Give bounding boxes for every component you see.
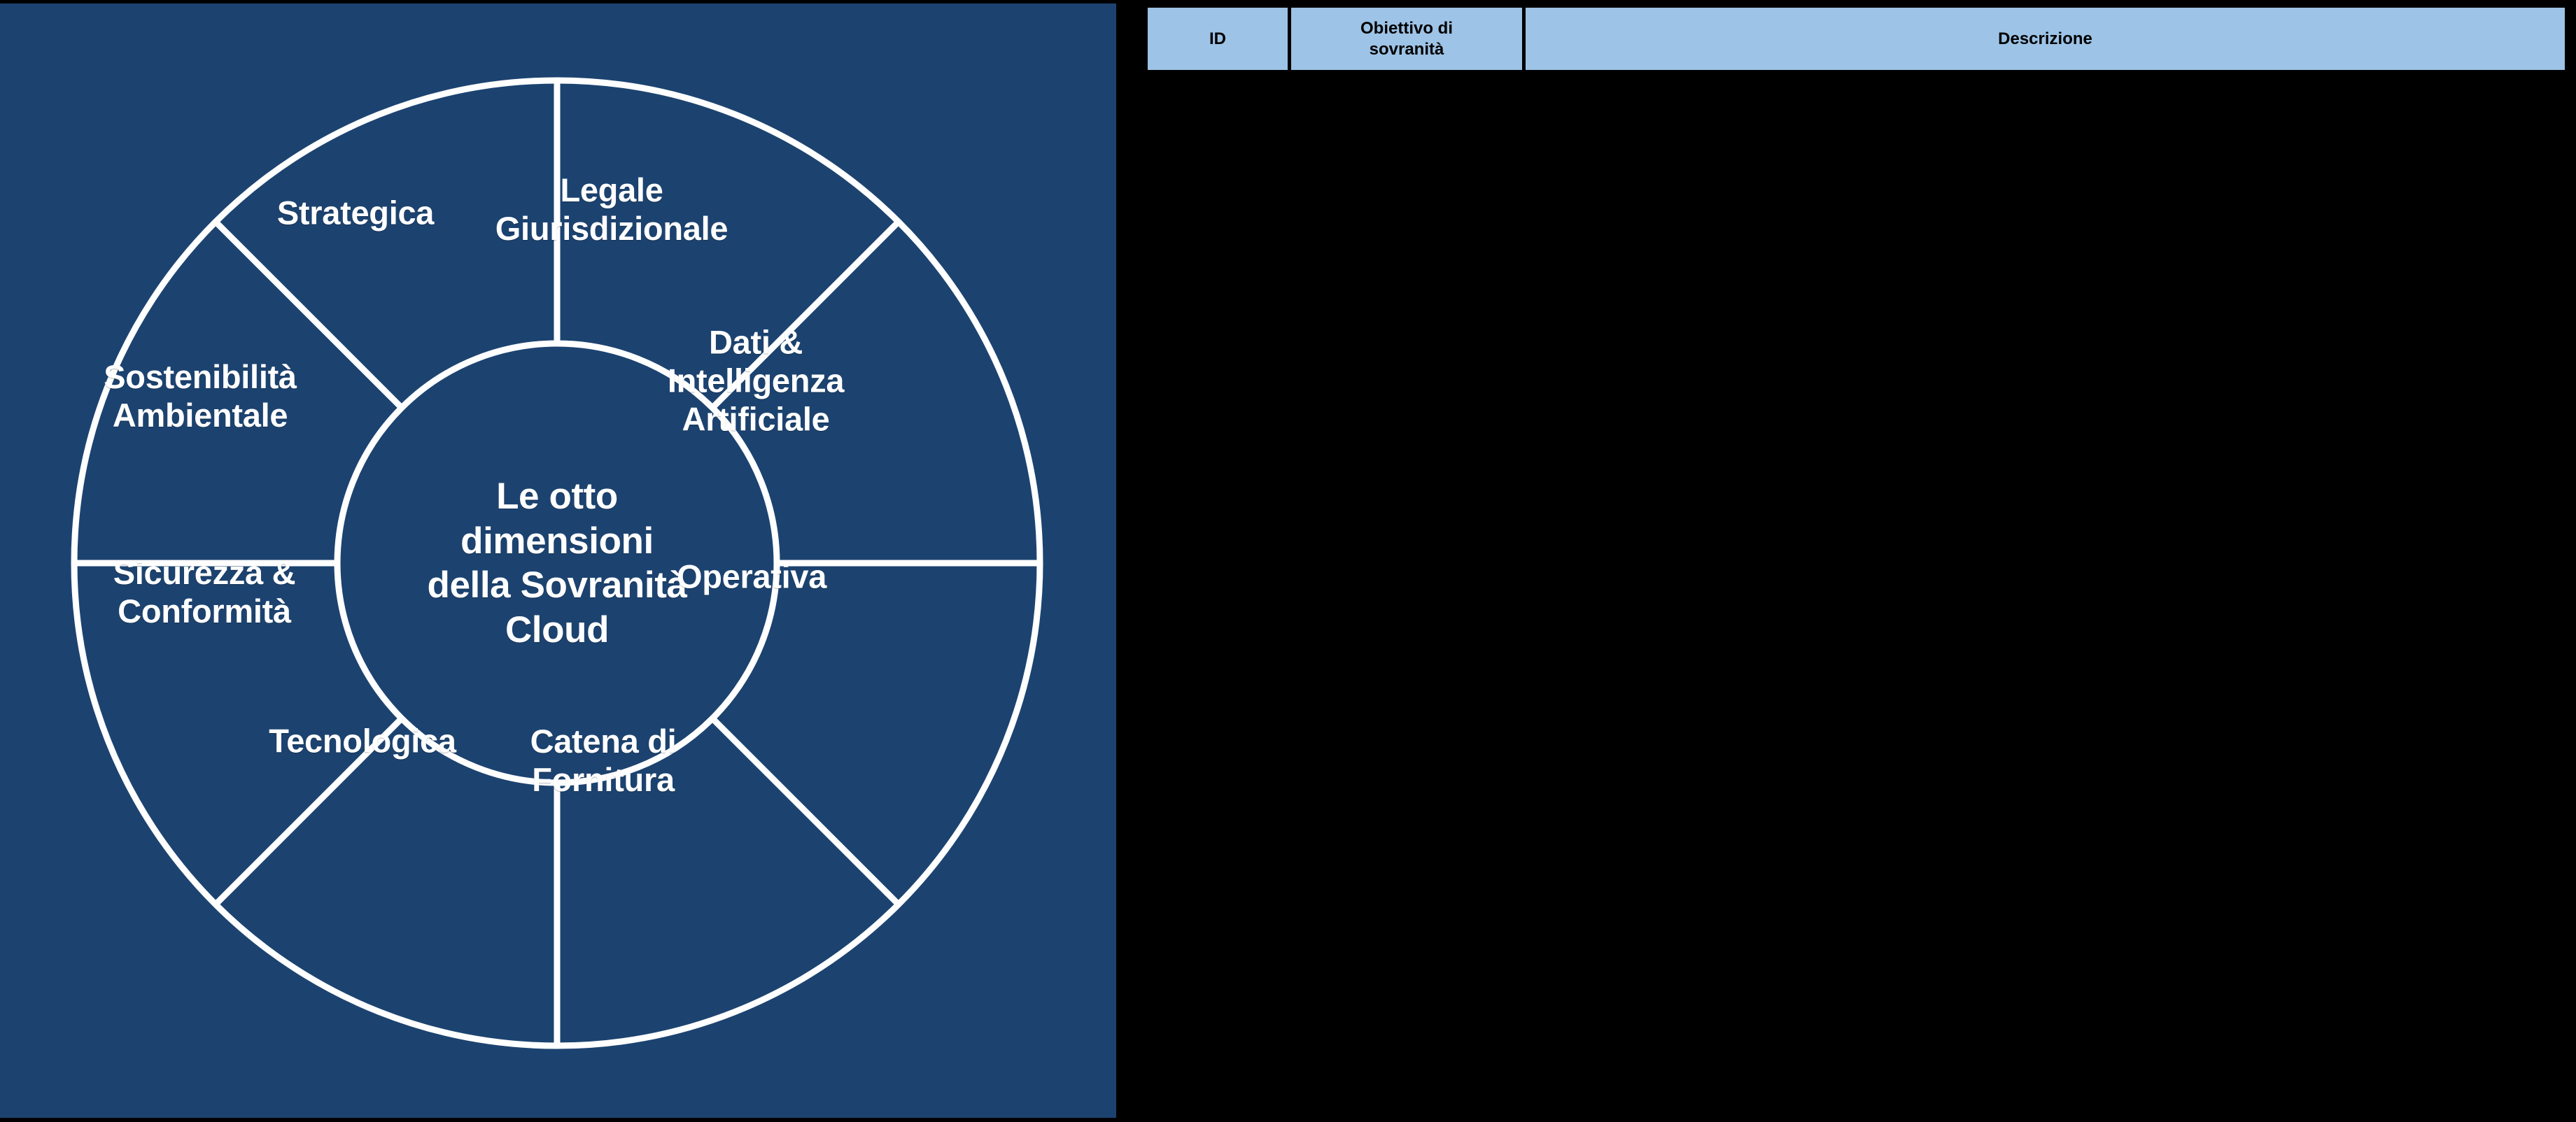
- sovereignty-wheel-panel: Le otto dimensioni della Sovranità Cloud…: [0, 3, 1116, 1118]
- table-header-description[interactable]: Descrizione: [1526, 8, 2565, 70]
- wheel-spoke-upper-left: [216, 222, 402, 408]
- wheel-spoke-upper-right: [712, 222, 899, 408]
- wheel-spoke-lower-right: [712, 718, 899, 904]
- sovereignty-objectives-table: ID Obiettivo di sovranità Descrizione: [1144, 8, 2568, 70]
- wheel-hub-circle: [337, 343, 777, 783]
- table-header-goal[interactable]: Obiettivo di sovranità: [1291, 8, 1522, 70]
- table-header-id[interactable]: ID: [1148, 8, 1288, 70]
- sovereignty-wheel-graphic: [0, 3, 1116, 1118]
- wheel-spoke-lower-left: [216, 718, 402, 904]
- table-header-row: ID Obiettivo di sovranità Descrizione: [1148, 8, 2565, 70]
- table-header: ID Obiettivo di sovranità Descrizione: [1148, 8, 2565, 70]
